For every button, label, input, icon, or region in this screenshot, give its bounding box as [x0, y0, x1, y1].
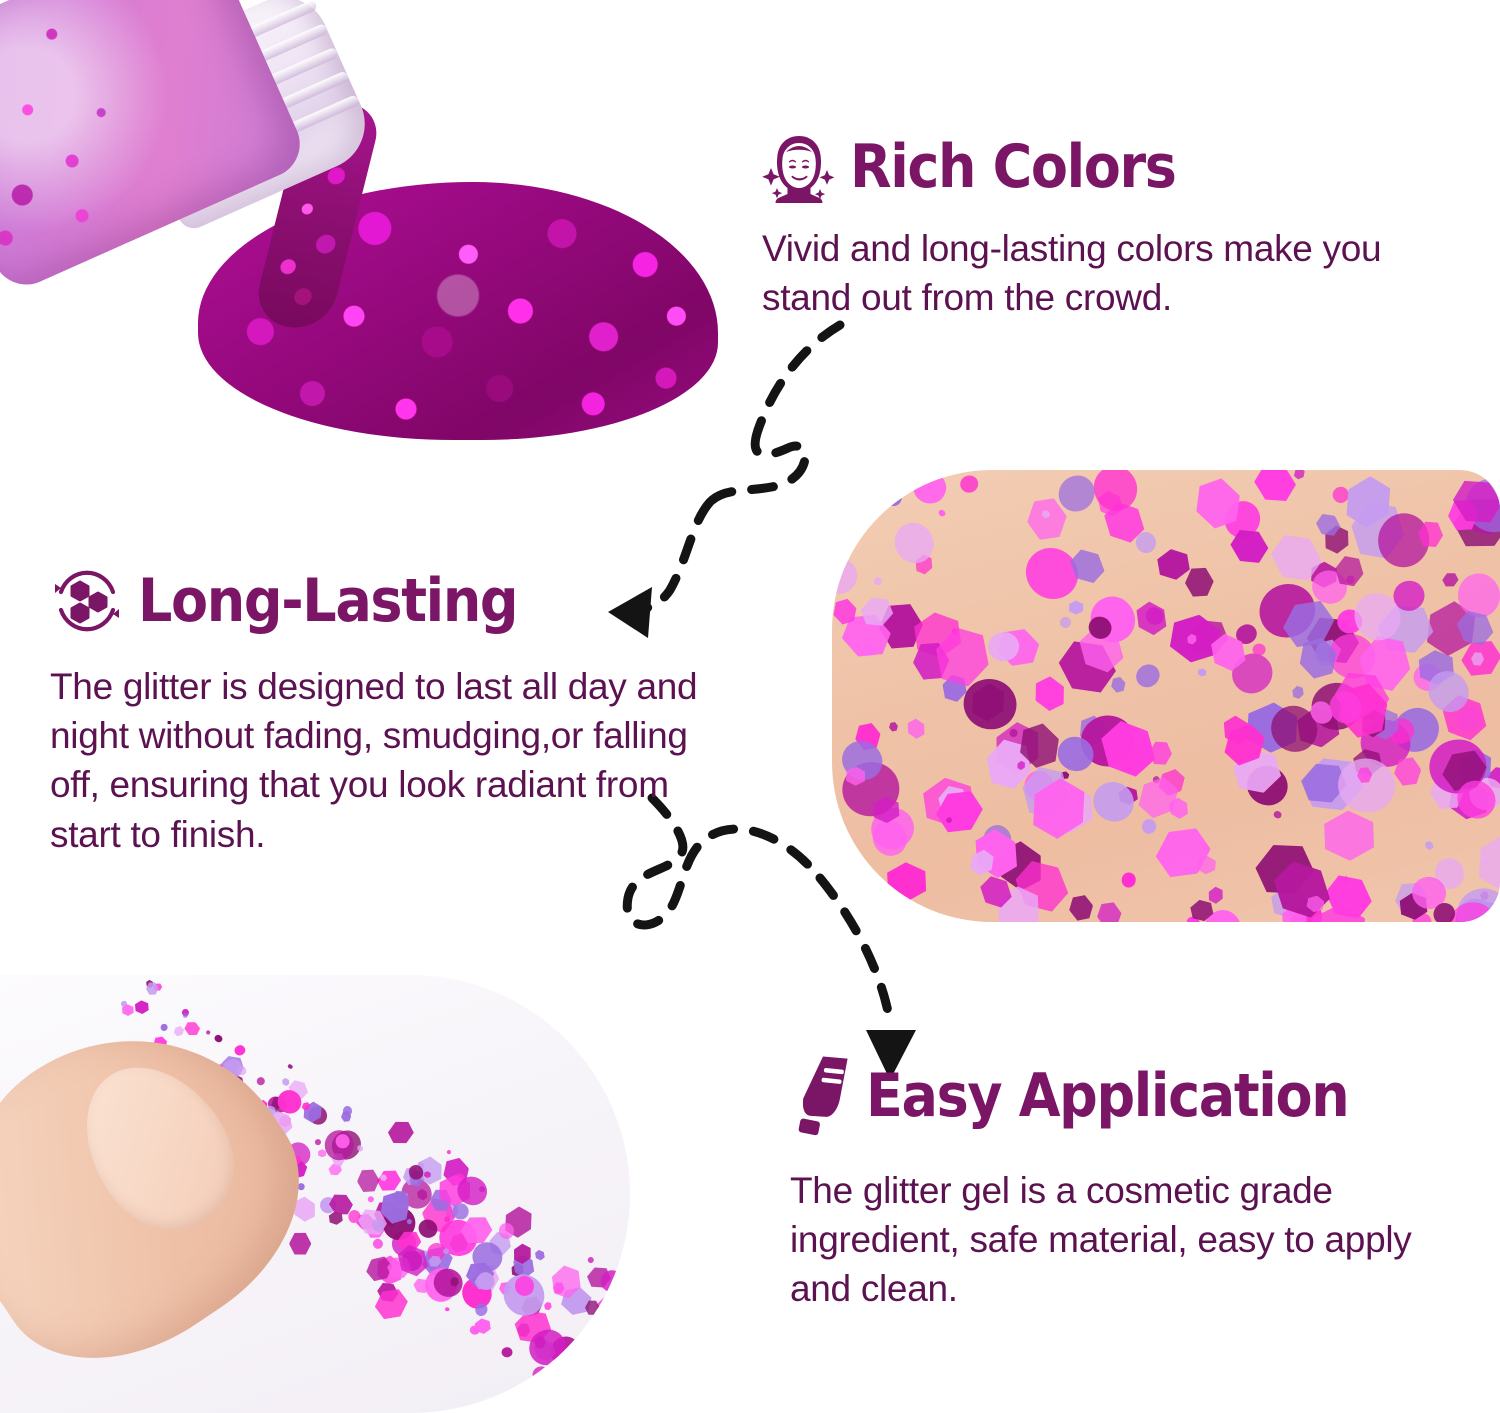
feature-description: Vivid and long-lasting colors make you s…	[762, 224, 1462, 322]
feature-title: Rich Colors	[850, 137, 1176, 197]
photo-finger-smear	[0, 975, 630, 1413]
hexagons-refresh-cycle-icon	[50, 562, 124, 640]
feature-rich-colors: Rich Colors Vivid and long-lasting color…	[762, 128, 1462, 322]
feature-header: Easy Application	[790, 1050, 1470, 1142]
feature-long-lasting: Long-Lasting The glitter is designed to …	[50, 562, 740, 859]
feature-header: Rich Colors	[762, 128, 1462, 206]
woman-face-sparkle-icon	[762, 128, 836, 206]
feature-title: Long-Lasting	[138, 571, 517, 631]
cosmetic-tube-icon	[790, 1050, 852, 1142]
photo-glitter-on-skin	[832, 470, 1500, 922]
photo-glitter-gel-pouring	[0, 0, 740, 445]
feature-description: The glitter is designed to last all day …	[50, 662, 730, 859]
feature-easy-application: Easy Application The glitter gel is a co…	[790, 1050, 1470, 1314]
feature-header: Long-Lasting	[50, 562, 740, 640]
infographic-page: Rich Colors Vivid and long-lasting color…	[0, 0, 1500, 1413]
glitter-particles	[832, 470, 1500, 922]
feature-title: Easy Application	[866, 1066, 1348, 1126]
feature-description: The glitter gel is a cosmetic grade ingr…	[790, 1166, 1460, 1314]
